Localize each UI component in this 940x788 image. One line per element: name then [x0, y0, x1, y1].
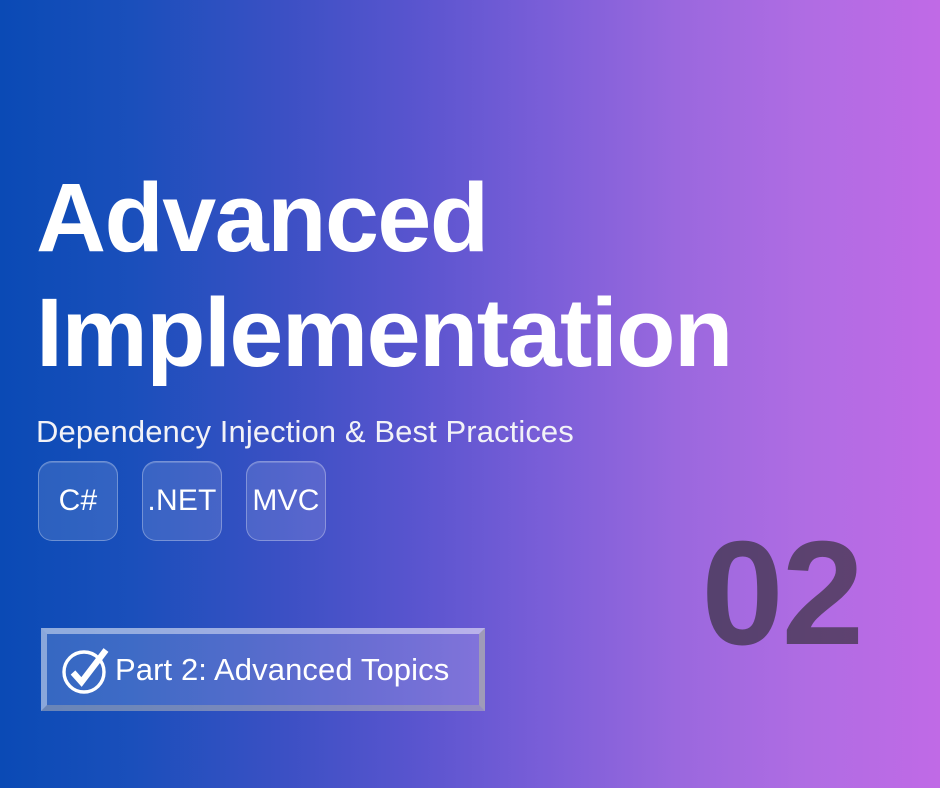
- tech-tile-label: MVC: [252, 484, 319, 518]
- tech-tile-mvc[interactable]: MVC: [246, 461, 326, 541]
- slide-number-watermark: 02: [701, 520, 862, 668]
- slide-subtitle: Dependency Injection & Best Practices: [36, 413, 896, 450]
- tech-tile-dotnet[interactable]: .NET: [142, 461, 222, 541]
- slide-content-block: Advanced Implementation Dependency Injec…: [36, 160, 896, 450]
- slide-title: Advanced Implementation: [36, 160, 896, 391]
- part-badge-label: Part 2: Advanced Topics: [115, 654, 449, 685]
- part-badge[interactable]: Part 2: Advanced Topics: [41, 628, 485, 711]
- tech-tile-csharp[interactable]: C#: [38, 461, 118, 541]
- check-circle-icon: [59, 643, 113, 697]
- tech-tag-row: C# .NET MVC: [38, 461, 326, 541]
- tech-tile-label: .NET: [147, 484, 216, 518]
- tech-tile-label: C#: [59, 484, 98, 518]
- presentation-slide: 02 Advanced Implementation Dependency In…: [0, 0, 940, 788]
